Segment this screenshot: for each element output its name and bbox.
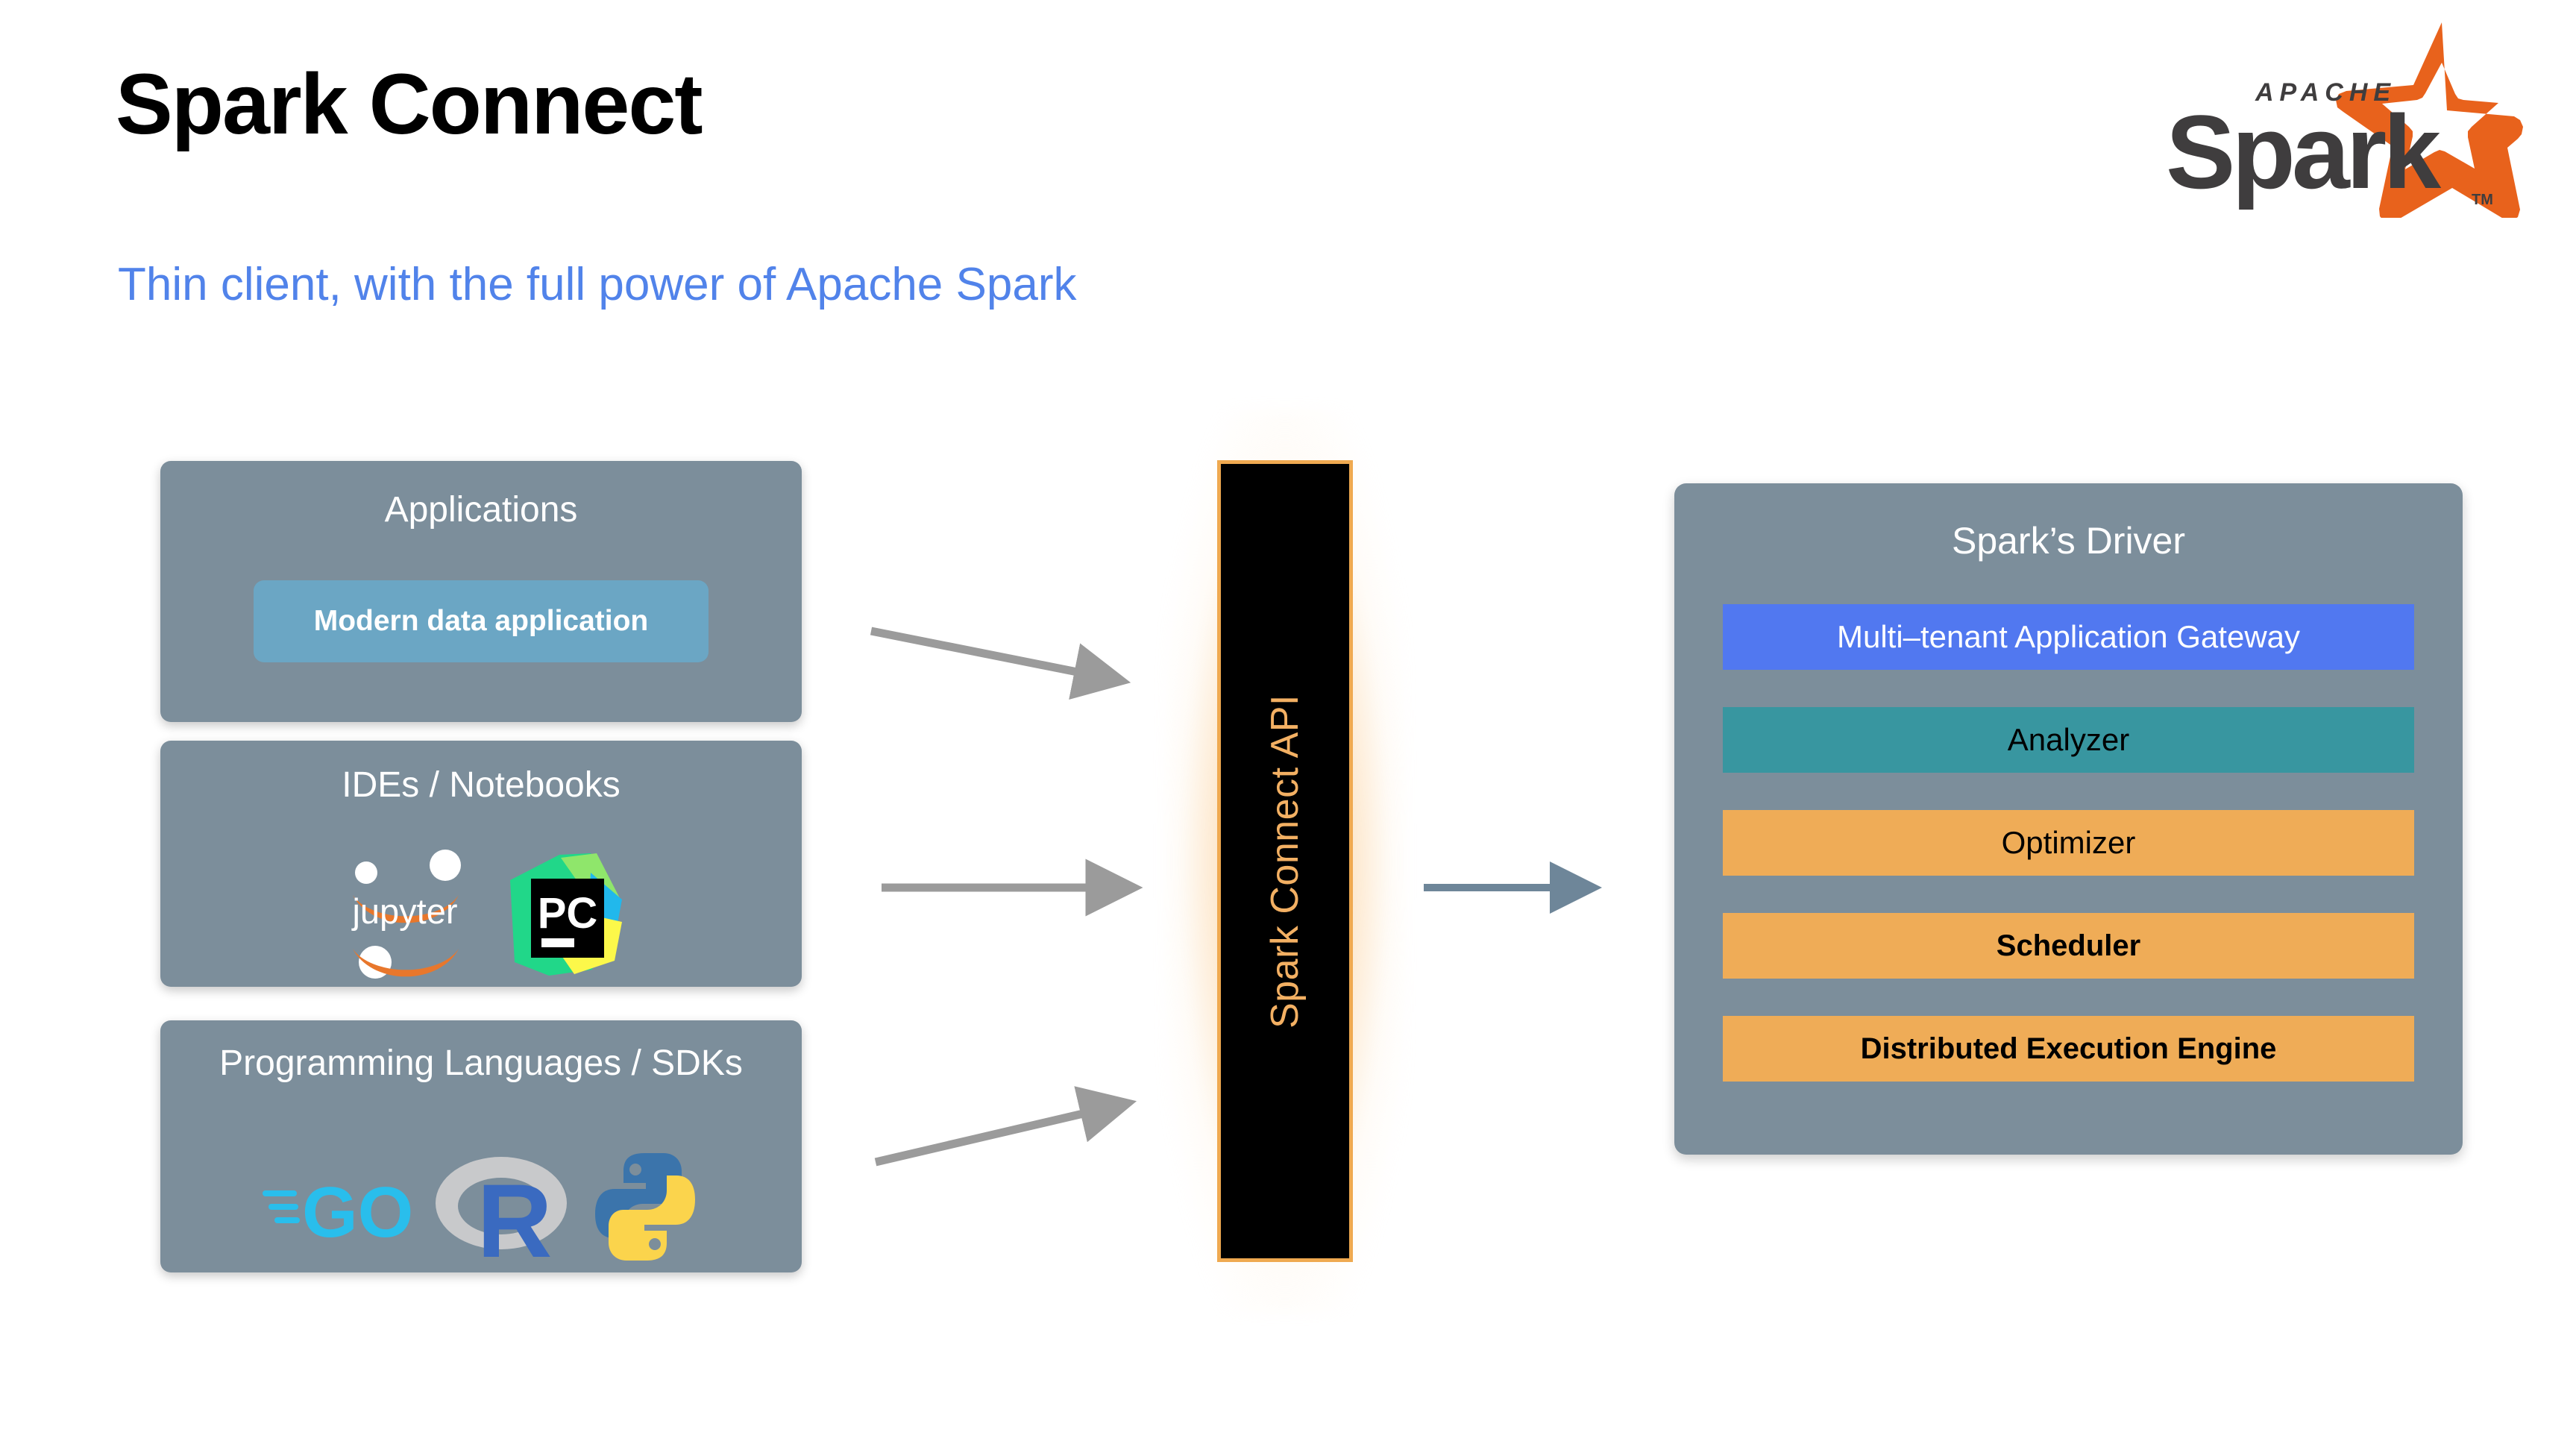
jupyter-dot-top-left xyxy=(355,861,377,884)
page-title: Spark Connect xyxy=(116,60,702,150)
go-logo: GO xyxy=(261,1162,418,1255)
pycharm-logo: PC xyxy=(503,850,626,982)
client-card-title: IDEs / Notebooks xyxy=(160,765,802,807)
logo-trademark: TM xyxy=(2472,192,2493,208)
modern-data-application-pill[interactable]: Modern data application xyxy=(254,580,709,662)
client-card-ides-notebooks[interactable]: IDEs / Notebooks jupyter xyxy=(160,741,802,987)
client-card-applications[interactable]: Applications Modern data application xyxy=(160,461,802,722)
pycharm-underscore xyxy=(541,938,574,947)
api-bar-label: Spark Connect API xyxy=(1263,694,1307,1029)
client-logo-row: jupyter PC xyxy=(160,849,802,983)
apache-spark-logo-svg: APACHE Spark TM xyxy=(2151,16,2524,218)
arrow-applications-to-api xyxy=(865,619,1163,709)
go-speed-lines-icon xyxy=(263,1190,300,1223)
jupyter-dot-top-right xyxy=(430,850,461,881)
apache-spark-logo: APACHE Spark TM xyxy=(2151,16,2524,218)
pycharm-label: PC xyxy=(538,889,598,938)
driver-row-optimizer[interactable]: Optimizer xyxy=(1723,810,2414,876)
driver-row-gateway[interactable]: Multi–tenant Application Gateway xyxy=(1723,604,2414,670)
client-card-title: Programming Languages / SDKs xyxy=(160,1043,802,1085)
driver-row-analyzer[interactable]: Analyzer xyxy=(1723,707,2414,773)
jupyter-logo-svg: jupyter xyxy=(336,849,474,979)
driver-panel-title: Spark’s Driver xyxy=(1674,519,2463,562)
client-logo-row: GO R xyxy=(160,1143,802,1274)
jupyter-wordmark: jupyter xyxy=(351,891,457,931)
driver-row-execution-engine[interactable]: Distributed Execution Engine xyxy=(1723,1016,2414,1082)
arrow-api-to-driver xyxy=(1421,865,1607,910)
python-logo-svg xyxy=(589,1150,701,1264)
client-card-programming-languages[interactable]: Programming Languages / SDKs GO xyxy=(160,1020,802,1272)
python-logo xyxy=(589,1150,701,1267)
r-logo: R xyxy=(433,1143,574,1274)
go-logo-svg: GO xyxy=(261,1162,418,1252)
page-subtitle: Thin client, with the full power of Apac… xyxy=(118,260,1076,310)
driver-row-scheduler[interactable]: Scheduler xyxy=(1723,913,2414,979)
client-card-title: Applications xyxy=(160,489,802,532)
r-letter: R xyxy=(477,1162,552,1270)
pycharm-logo-svg: PC xyxy=(503,850,626,979)
api-bar-body[interactable]: Spark Connect API xyxy=(1217,460,1353,1262)
spark-connect-api-bar[interactable]: Spark Connect API xyxy=(1217,460,1353,1262)
driver-rows: Multi–tenant Application Gateway Analyze… xyxy=(1723,604,2414,1082)
r-logo-svg: R xyxy=(433,1143,574,1270)
arrow-languages-to-api xyxy=(871,1074,1169,1171)
spark-driver-panel[interactable]: Spark’s Driver Multi–tenant Application … xyxy=(1674,483,2463,1155)
go-wordmark: GO xyxy=(302,1173,413,1252)
jupyter-logo: jupyter xyxy=(336,849,474,983)
logo-wordmark-spark: Spark xyxy=(2166,93,2441,210)
slide-canvas: Spark Connect Thin client, with the full… xyxy=(0,0,2576,1447)
arrow-ides-to-api xyxy=(879,865,1177,910)
